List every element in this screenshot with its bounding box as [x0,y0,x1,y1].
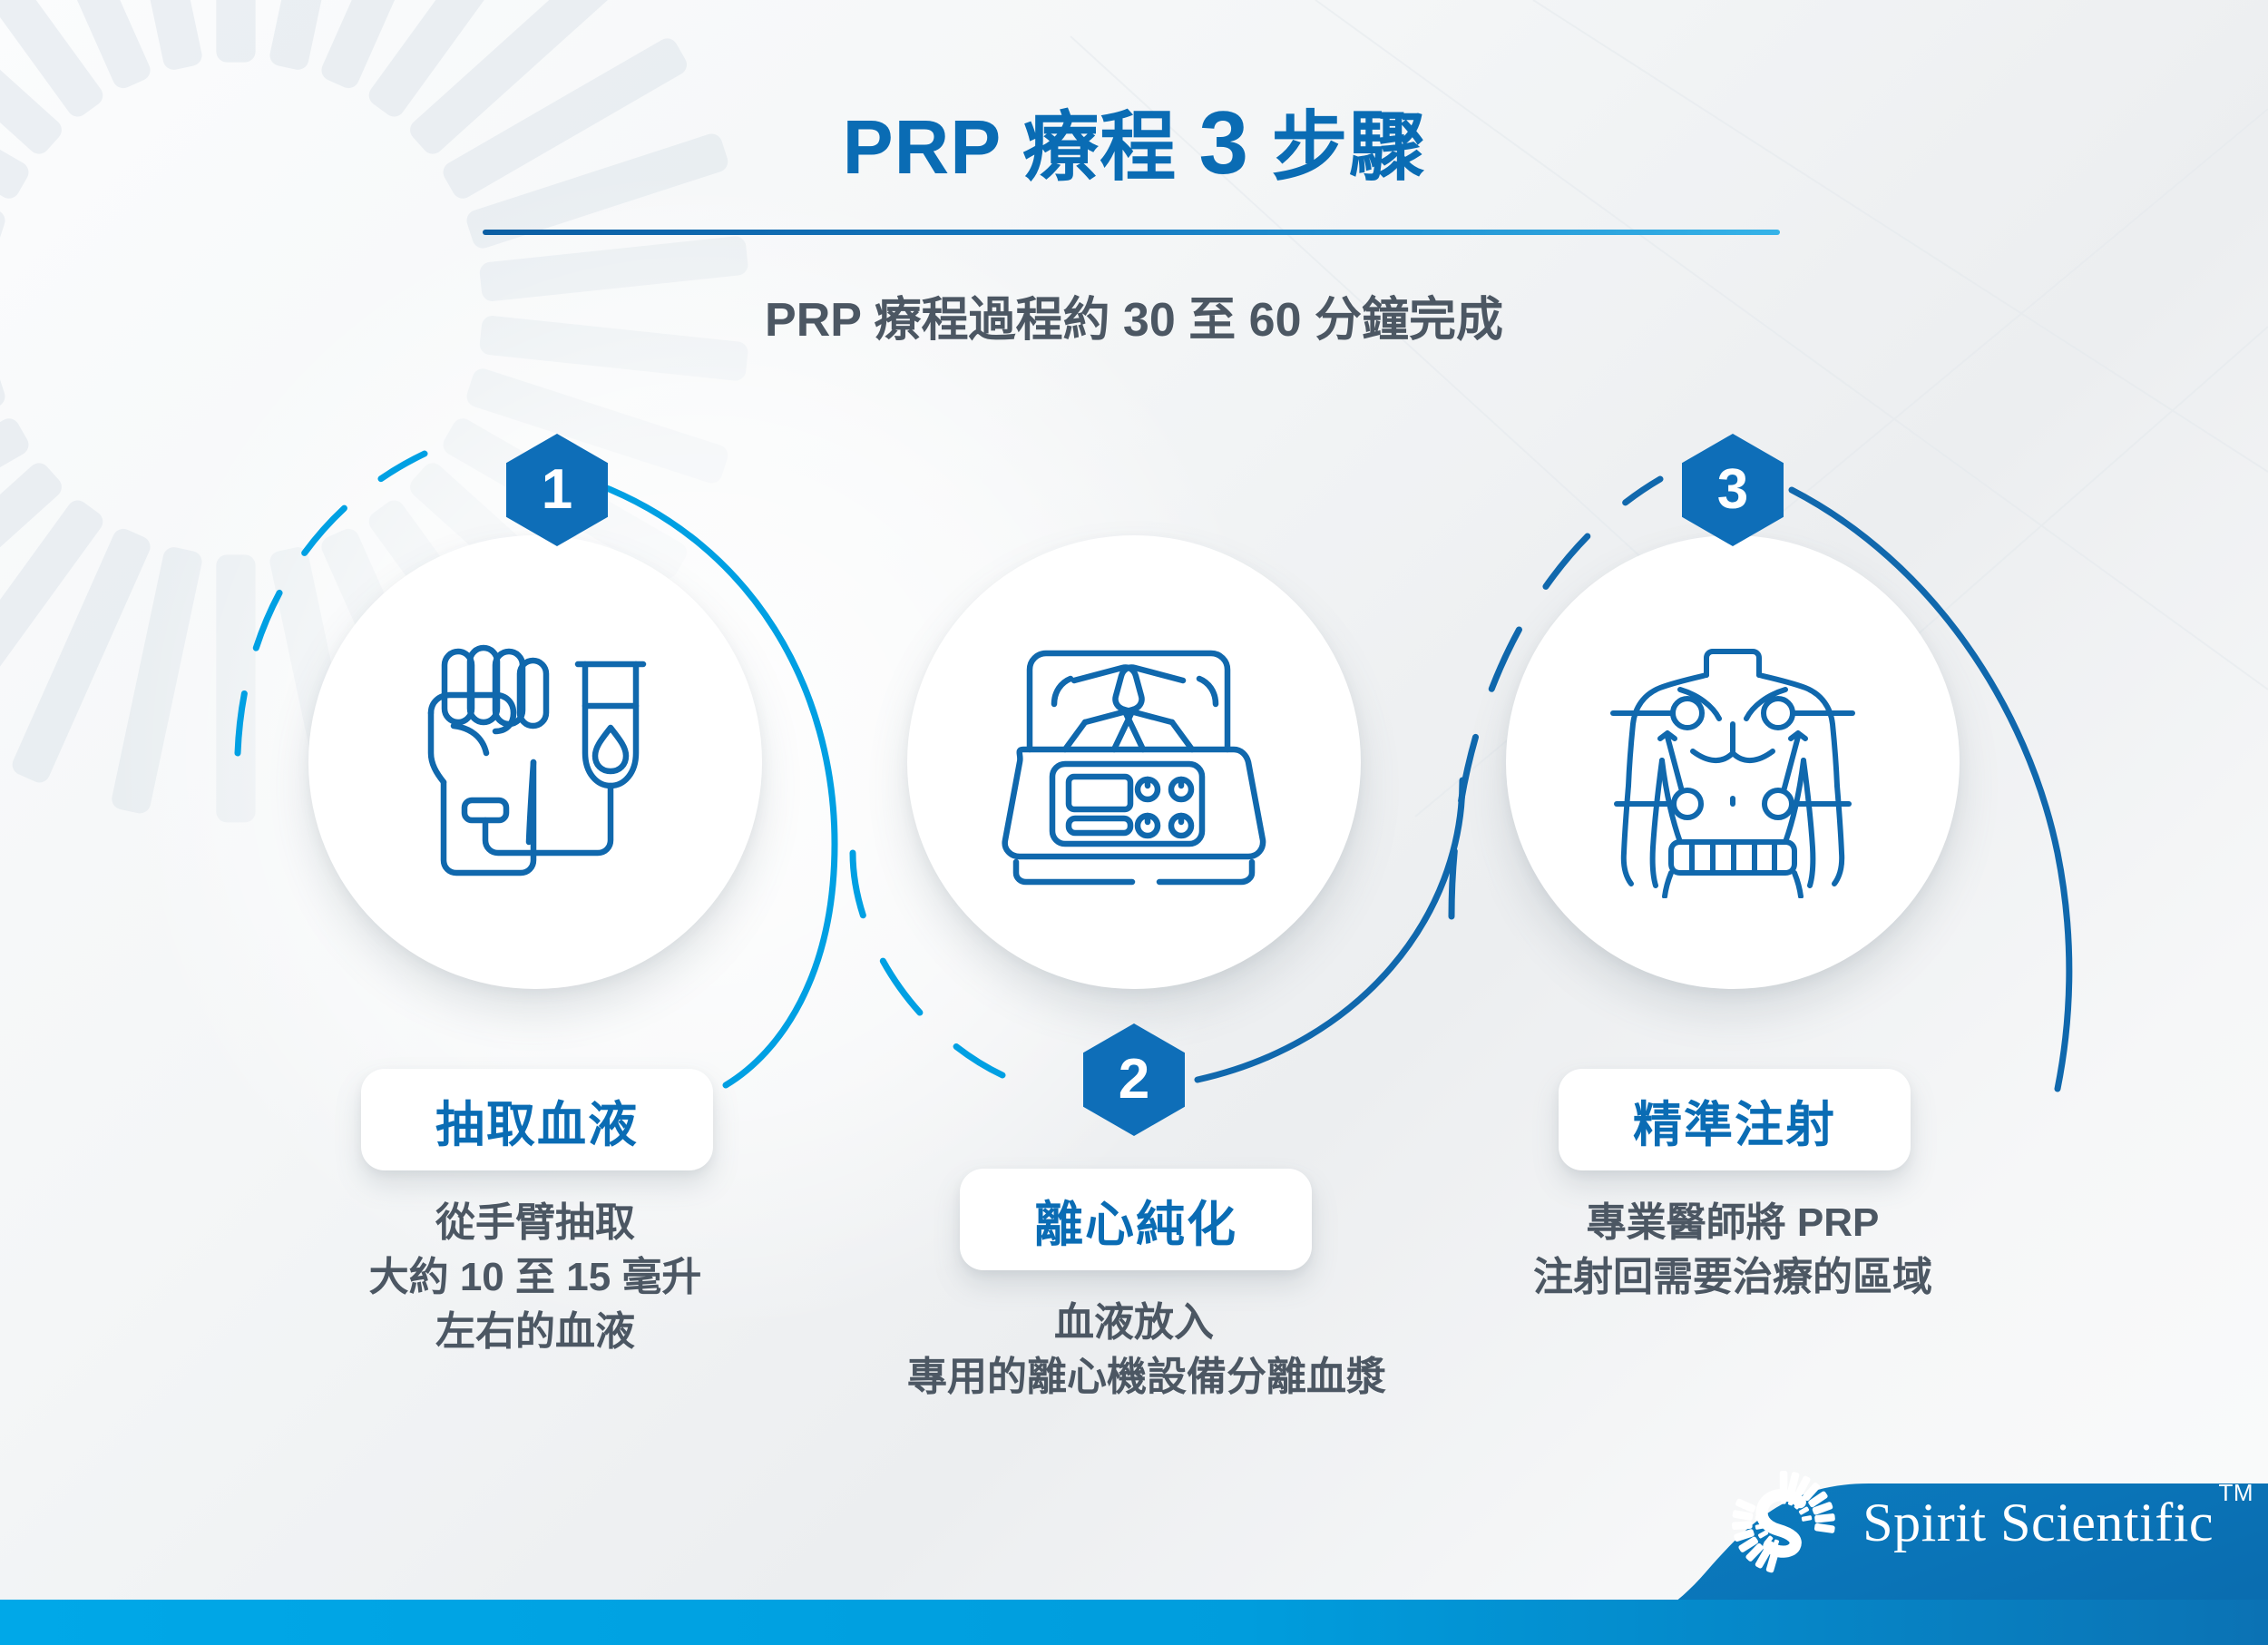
title-divider [483,230,1780,235]
step-1-icon-circle [308,535,762,989]
brand-name: Spirit Scientific [1862,1493,2214,1552]
step-3-desc-line-1: 專業醫師將 PRP [1461,1196,2005,1250]
step-2-desc-line-2: 專用的離心機設備分離血漿 [907,1350,1361,1405]
step-1-desc-line-1: 從手臂抽取 [308,1196,762,1250]
title-suffix: 步驟 [1271,104,1425,190]
spirit-burst-icon [1728,1467,1839,1578]
step-1-number: 1 [542,462,572,518]
step-1-desc-line-3: 左右的血液 [308,1305,762,1359]
title-prefix: PRP 療程 [843,104,1178,190]
step-3-desc-line-2: 注射回需要治療的區域 [1461,1250,2005,1305]
step-2-badge: 2 [1083,1023,1185,1136]
centrifuge-icon [998,626,1270,898]
step-1-badge: 1 [506,434,608,546]
brand-logo: Spirit Scientific TM [1728,1467,2214,1578]
page-subtitle: PRP 療程過程約 30 至 60 分鐘完成 [0,281,2268,349]
fist-blood-tube-icon [399,626,671,898]
step-3-label: 精準注射 [1633,1084,1836,1156]
title-number: 3 [1199,93,1250,192]
brand-wordmark: Spirit Scientific TM [1862,1492,2214,1554]
step-1-label-pill[interactable]: 抽取血液 [361,1069,713,1170]
step-1-description: 從手臂抽取 大約 10 至 15 毫升 左右的血液 [308,1196,762,1358]
step-3-description: 專業醫師將 PRP 注射回需要治療的區域 [1461,1196,2005,1305]
step-3-badge: 3 [1682,434,1784,546]
step-2-label-pill[interactable]: 離心純化 [960,1169,1312,1270]
step-3-label-pill[interactable]: 精準注射 [1559,1069,1911,1170]
infographic-canvas: PRP 療程 3 步驟 PRP 療程過程約 30 至 60 分鐘完成 [0,0,2268,1645]
step-3-number: 3 [1717,462,1748,518]
step-2-desc-line-1: 血液放入 [907,1296,1361,1350]
step-3-icon-circle [1506,535,1960,989]
page-title: PRP 療程 3 步驟 [0,86,2268,196]
step-1-desc-line-2: 大約 10 至 15 毫升 [308,1250,762,1305]
step-1-label: 抽取血液 [435,1084,639,1156]
step-2-description: 血液放入 專用的離心機設備分離血漿 [907,1296,1361,1405]
step-2-icon-circle [907,535,1361,989]
trademark-symbol: TM [2218,1479,2253,1507]
step-2-number: 2 [1119,1052,1149,1108]
step-2-label: 離心純化 [1034,1184,1237,1256]
torso-injection-points-icon [1597,626,1869,898]
